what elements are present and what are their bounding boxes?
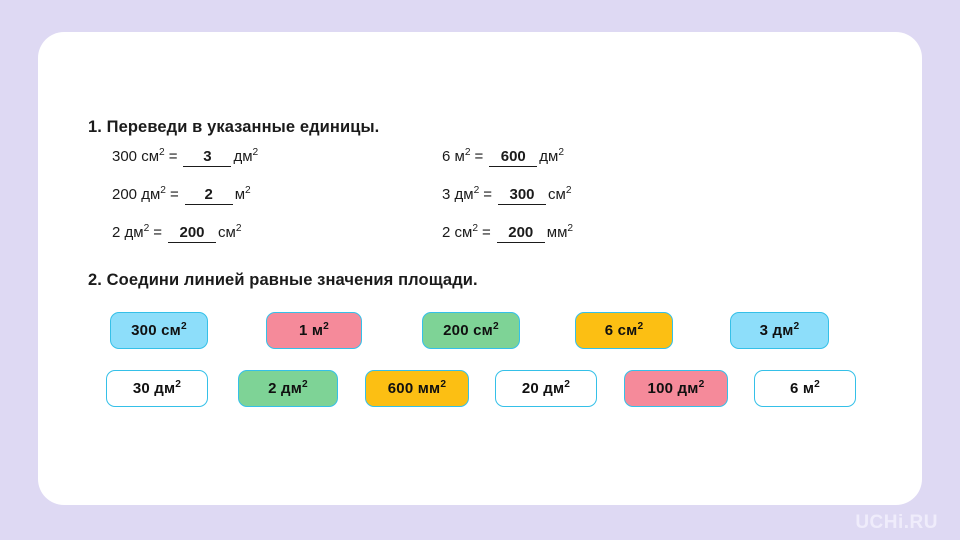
exponent: 2	[814, 379, 820, 390]
equation-left-side: 300 см2	[112, 148, 165, 165]
exponent: 2	[245, 185, 251, 196]
equation: 3 дм2=300см2	[442, 186, 572, 205]
chip-label: 30 дм2	[133, 380, 181, 397]
equation-row: 2 дм2=200см22 см2=200мм2	[112, 224, 772, 262]
equals-sign: =	[149, 224, 166, 241]
area-value-chip[interactable]: 300 см2	[110, 312, 208, 349]
chip-label: 6 м2	[790, 380, 820, 397]
equation-left-side: 200 дм2	[112, 186, 166, 203]
equation-unit: см2	[548, 186, 571, 203]
equals-sign: =	[166, 186, 183, 203]
equation-unit: дм2	[233, 148, 258, 165]
area-value-chip[interactable]: 1 м2	[266, 312, 362, 349]
exponent: 2	[323, 321, 329, 332]
equation-left-side: 6 м2	[442, 148, 471, 165]
chip-label: 6 см2	[605, 322, 644, 339]
equation: 2 см2=200мм2	[442, 224, 573, 243]
equation-unit: мм2	[547, 224, 573, 241]
exponent: 2	[564, 379, 570, 390]
exponent: 2	[175, 379, 181, 390]
exponent: 2	[253, 147, 259, 158]
area-value-chip[interactable]: 30 дм2	[106, 370, 208, 407]
answer-blank[interactable]: 200	[168, 224, 216, 243]
exponent: 2	[558, 147, 564, 158]
answer-blank[interactable]: 600	[489, 148, 537, 167]
equation-left-side: 2 дм2	[112, 224, 149, 241]
task-1-equations: 300 см2=3дм26 м2=600дм2200 дм2=2м23 дм2=…	[112, 148, 772, 262]
answer-blank[interactable]: 200	[497, 224, 545, 243]
equation-row: 200 дм2=2м23 дм2=300см2	[112, 186, 772, 224]
area-value-chip[interactable]: 600 мм2	[365, 370, 469, 407]
exponent: 2	[236, 223, 242, 234]
area-value-chip[interactable]: 6 см2	[575, 312, 673, 349]
chip-label: 20 дм2	[522, 380, 570, 397]
equation-cell-right: 3 дм2=300см2	[442, 186, 772, 205]
exponent: 2	[181, 321, 187, 332]
area-value-chip[interactable]: 2 дм2	[238, 370, 338, 407]
chip-label: 3 дм2	[760, 322, 800, 339]
chip-label: 100 дм2	[648, 380, 705, 397]
area-value-chip[interactable]: 200 см2	[422, 312, 520, 349]
task-2-heading: 2. Соедини линией равные значения площад…	[88, 271, 478, 290]
exponent: 2	[566, 185, 572, 196]
equals-sign: =	[165, 148, 182, 165]
uchi-ru-watermark: UCHi.RU	[855, 512, 938, 534]
equation-unit: см2	[218, 224, 241, 241]
exponent: 2	[440, 379, 446, 390]
equation-unit: м2	[235, 186, 251, 203]
equation: 6 м2=600дм2	[442, 148, 564, 167]
chip-label: 1 м2	[299, 322, 329, 339]
equals-sign: =	[478, 224, 495, 241]
equation-cell-left: 300 см2=3дм2	[112, 148, 442, 167]
chip-label: 2 дм2	[268, 380, 308, 397]
answer-blank[interactable]: 2	[185, 186, 233, 205]
chip-label: 200 см2	[443, 322, 499, 339]
exponent: 2	[493, 321, 499, 332]
chip-label: 600 мм2	[388, 380, 446, 397]
area-value-chip[interactable]: 3 дм2	[730, 312, 829, 349]
equation: 300 см2=3дм2	[112, 148, 258, 167]
exponent: 2	[699, 379, 705, 390]
equals-sign: =	[479, 186, 496, 203]
exponent: 2	[567, 223, 573, 234]
equation-unit: дм2	[539, 148, 564, 165]
area-value-chip[interactable]: 100 дм2	[624, 370, 728, 407]
task-1-heading: 1. Переведи в указанные единицы.	[88, 118, 379, 137]
equation: 2 дм2=200см2	[112, 224, 242, 243]
equation-cell-left: 2 дм2=200см2	[112, 224, 442, 243]
exponent: 2	[794, 321, 800, 332]
exponent: 2	[637, 321, 643, 332]
chip-label: 300 см2	[131, 322, 187, 339]
answer-blank[interactable]: 300	[498, 186, 546, 205]
worksheet-card	[38, 32, 922, 505]
equation-cell-right: 2 см2=200мм2	[442, 224, 772, 243]
equation: 200 дм2=2м2	[112, 186, 251, 205]
equals-sign: =	[471, 148, 488, 165]
exponent: 2	[302, 379, 308, 390]
equation-left-side: 2 см2	[442, 224, 478, 241]
equation-left-side: 3 дм2	[442, 186, 479, 203]
equation-cell-right: 6 м2=600дм2	[442, 148, 772, 167]
area-value-chip[interactable]: 6 м2	[754, 370, 856, 407]
area-value-chip[interactable]: 20 дм2	[495, 370, 597, 407]
equation-row: 300 см2=3дм26 м2=600дм2	[112, 148, 772, 186]
equation-cell-left: 200 дм2=2м2	[112, 186, 442, 205]
answer-blank[interactable]: 3	[183, 148, 231, 167]
